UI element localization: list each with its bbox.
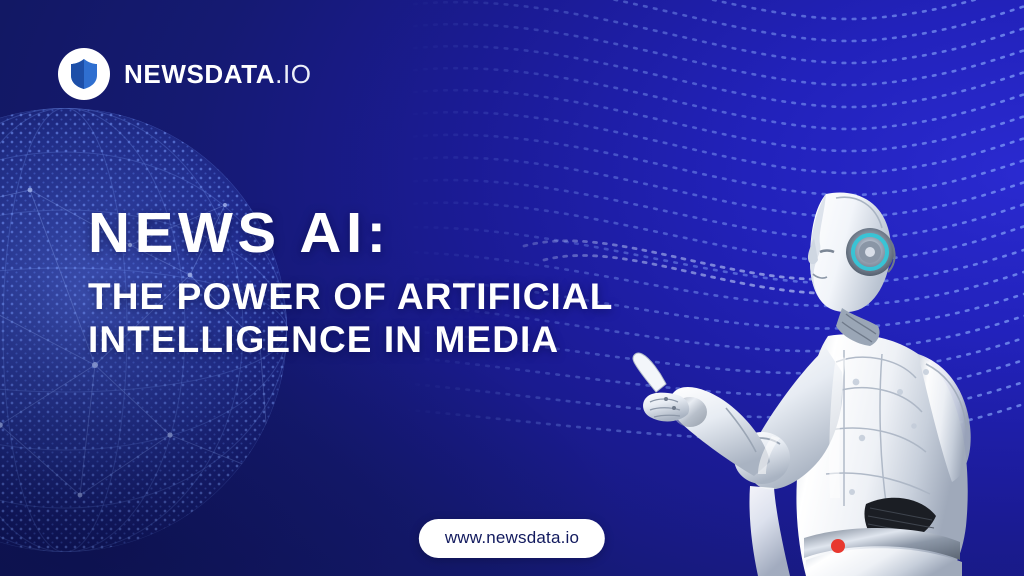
- robot-hip-indicator: [831, 539, 845, 553]
- brand-logo[interactable]: NEWSDATA.IO: [58, 48, 312, 100]
- shield-icon: [58, 48, 110, 100]
- headline-line-2: THE POWER OF ARTIFICIAL: [88, 276, 708, 319]
- brand-name-main: NEWSDATA: [124, 59, 275, 89]
- website-url-pill[interactable]: www.newsdata.io: [419, 519, 605, 558]
- promo-banner: NEWSDATA.IO NEWS AI: THE POWER OF ARTIFI…: [0, 0, 1024, 576]
- brand-name-tld: .IO: [275, 59, 311, 89]
- headline-block: NEWS AI: THE POWER OF ARTIFICIAL INTELLI…: [88, 205, 708, 362]
- headline-line-3: INTELLIGENCE IN MEDIA: [88, 319, 708, 362]
- headline-line-1: NEWS AI:: [88, 205, 720, 262]
- brand-name: NEWSDATA.IO: [124, 59, 312, 90]
